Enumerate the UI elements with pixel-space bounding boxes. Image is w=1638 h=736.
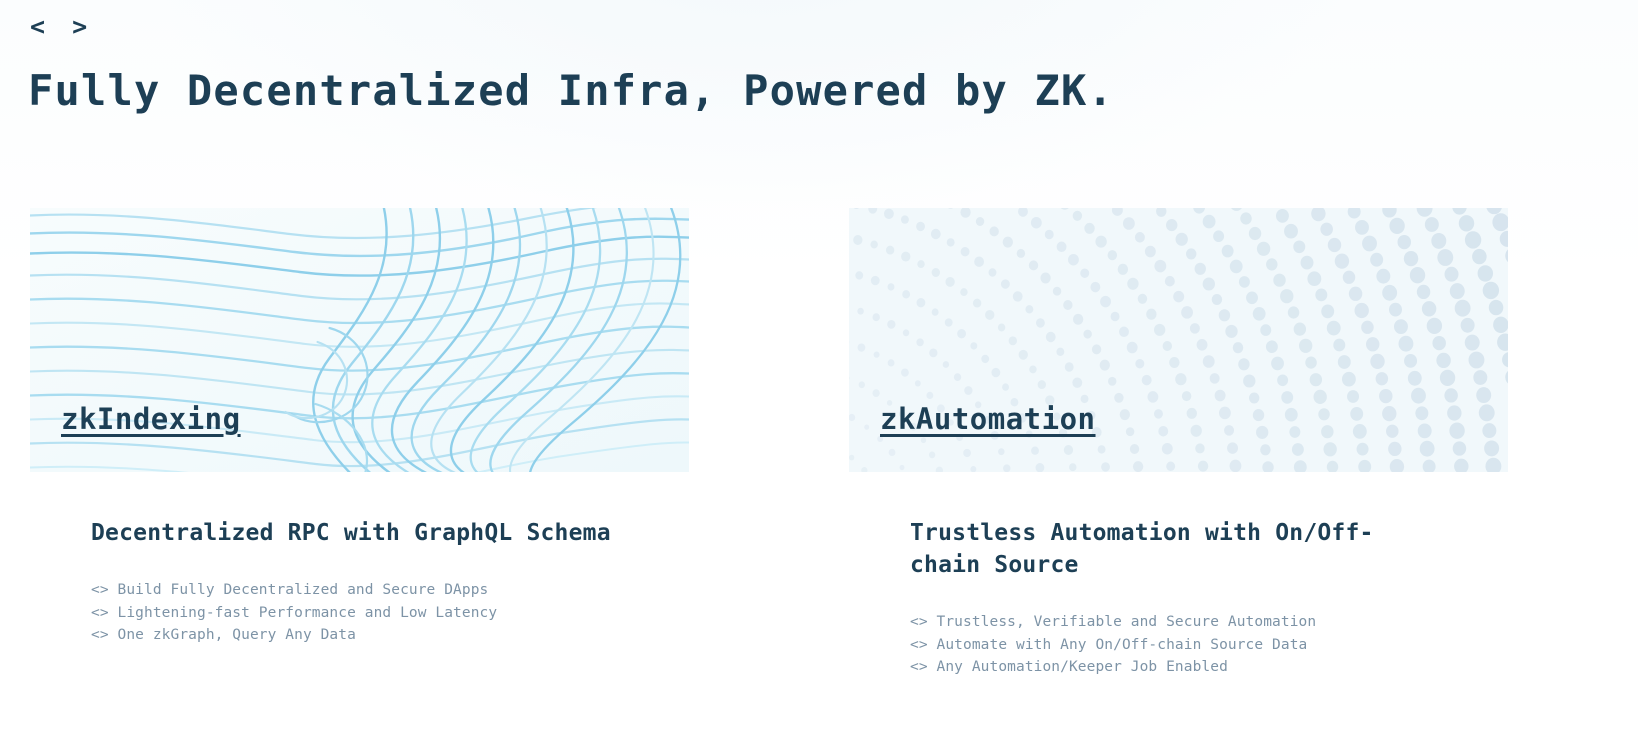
bullet-text: Automate with Any On/Off-chain Source Da…	[937, 637, 1308, 653]
bullet-marker-icon: <>	[910, 614, 928, 630]
list-item: <> Lightening-fast Performance and Low L…	[91, 602, 819, 625]
card-bullet-list-zkautomation: <> Trustless, Verifiable and Secure Auto…	[910, 611, 1638, 679]
bullet-marker-icon: <>	[91, 582, 109, 598]
feature-card-zkindexing[interactable]: zkIndexing Decentralized RPC with GraphQ…	[0, 208, 819, 679]
list-item: <> Build Fully Decentralized and Secure …	[91, 579, 819, 602]
bullet-marker-icon: <>	[91, 605, 109, 621]
page-title: Fully Decentralized Infra, Powered by ZK…	[28, 62, 1114, 120]
feature-cards-row: zkIndexing Decentralized RPC with GraphQ…	[0, 208, 1638, 679]
card-title-link-zkindexing[interactable]: zkIndexing	[61, 400, 241, 438]
bullet-marker-icon: <>	[91, 627, 109, 643]
card-subtitle-zkindexing: Decentralized RPC with GraphQL Schema	[91, 517, 611, 549]
bullet-text: Build Fully Decentralized and Secure DAp…	[118, 582, 489, 598]
feature-card-zkautomation[interactable]: zkAutomation Trustless Automation with O…	[819, 208, 1638, 679]
card-bullet-list-zkindexing: <> Build Fully Decentralized and Secure …	[91, 579, 819, 647]
card-subtitle-zkautomation: Trustless Automation with On/Off-chain S…	[910, 517, 1430, 581]
page-wrapper: < > Fully Decentralized Infra, Powered b…	[0, 0, 1638, 736]
card-title-link-zkautomation[interactable]: zkAutomation	[880, 400, 1096, 438]
list-item: <> Trustless, Verifiable and Secure Auto…	[910, 611, 1638, 634]
bullet-marker-icon: <>	[910, 659, 928, 675]
card-body-zkindexing: Decentralized RPC with GraphQL Schema <>…	[30, 472, 819, 647]
list-item: <> Any Automation/Keeper Job Enabled	[910, 656, 1638, 679]
list-item: <> One zkGraph, Query Any Data	[91, 624, 819, 647]
code-brackets-icon: < >	[30, 12, 93, 42]
bullet-marker-icon: <>	[910, 637, 928, 653]
bullet-text: One zkGraph, Query Any Data	[118, 627, 356, 643]
bullet-text: Any Automation/Keeper Job Enabled	[937, 659, 1228, 675]
list-item: <> Automate with Any On/Off-chain Source…	[910, 634, 1638, 657]
card-body-zkautomation: Trustless Automation with On/Off-chain S…	[849, 472, 1638, 679]
bullet-text: Lightening-fast Performance and Low Late…	[118, 605, 498, 621]
bullet-text: Trustless, Verifiable and Secure Automat…	[937, 614, 1317, 630]
